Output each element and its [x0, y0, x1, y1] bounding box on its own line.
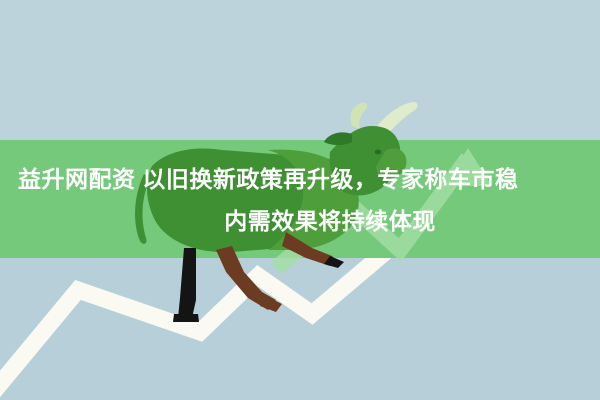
lower-sky-background [0, 258, 600, 400]
illustration-canvas [0, 0, 600, 400]
bull-eye [375, 150, 381, 155]
bull-rear-hoof [173, 314, 199, 322]
news-thumbnail: 益升网配资 以旧换新政策再升级，专家称车市稳 内需效果将持续体现 [0, 0, 600, 400]
